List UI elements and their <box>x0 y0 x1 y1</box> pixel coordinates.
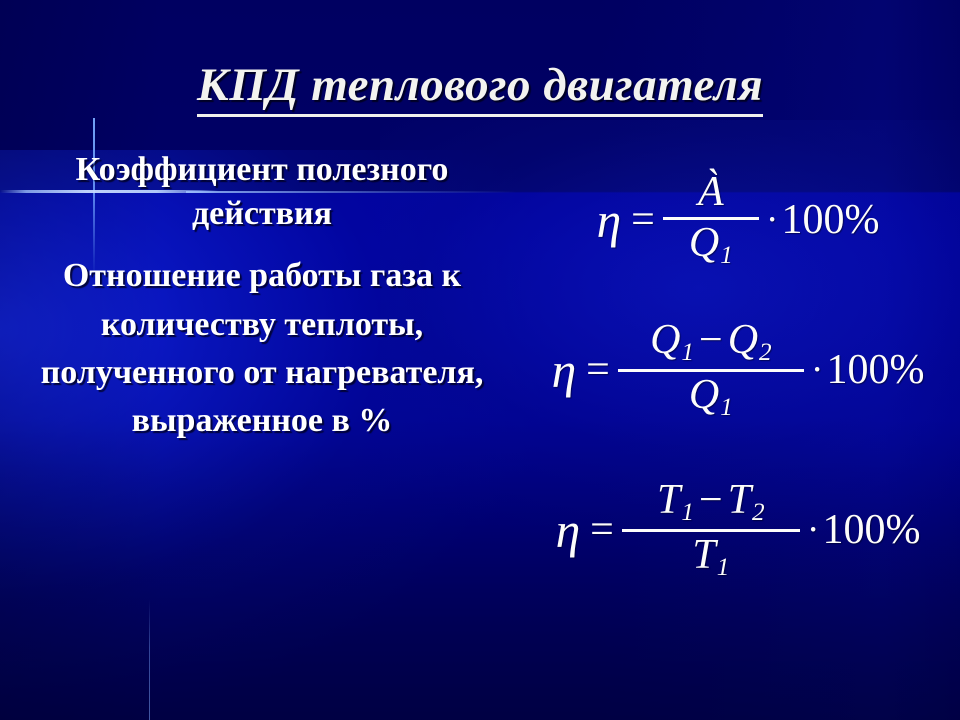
formula-1-numerator: À <box>692 171 730 217</box>
formula-efficiency-work-heat: η = À Q1 · 100% <box>516 150 960 290</box>
formula-2-multiply-dot: · <box>806 348 827 392</box>
formula-1-denominator-base: Q <box>689 220 719 266</box>
formula-2-denominator: Q1 <box>683 372 739 421</box>
decorative-vertical-line-bottom <box>149 600 150 720</box>
formula-2-numerator-second-base: Q <box>728 317 758 363</box>
formula-2-numerator-first-subscript: 1 <box>680 339 694 366</box>
formula-1-denominator: Q1 <box>683 220 739 269</box>
formula-3-fraction: T1−T2 T1 <box>622 479 800 581</box>
formula-3-denominator-subscript: 1 <box>716 554 730 581</box>
formula-2-equals-sign: = <box>580 346 616 394</box>
formula-1-equals-sign: = <box>625 196 661 244</box>
formula-2-eta-symbol: η <box>552 342 581 399</box>
formula-3-denominator-base: T <box>692 532 715 578</box>
formula-2-numerator-second-subscript: 2 <box>758 339 772 366</box>
definition-description: Отношение работы газа к количеству тепло… <box>8 252 516 445</box>
formula-1-denominator-subscript: 1 <box>719 242 733 269</box>
formula-3-numerator-first-base: T <box>657 477 680 523</box>
presentation-slide: КПД теплового двигателя Коэффициент поле… <box>0 0 960 720</box>
formula-3-numerator-second-base: T <box>728 477 751 523</box>
formula-1-eta-symbol: η <box>597 192 626 249</box>
formula-efficiency-temperature-difference: η = T1−T2 T1 · 100% <box>516 450 960 610</box>
formula-1-fraction: À Q1 <box>663 171 759 269</box>
formula-3-numerator-first-subscript: 1 <box>680 499 694 526</box>
formula-3-numerator-second-subscript: 2 <box>751 499 765 526</box>
formula-3-numerator-minus: − <box>694 477 728 523</box>
formula-3-eta-symbol: η <box>556 502 585 559</box>
formula-3-denominator: T1 <box>686 532 735 581</box>
formula-2-percent-factor: 100% <box>826 346 924 394</box>
formula-column: η = À Q1 · 100% η = Q1−Q2 Q1 · 100% η <box>516 150 960 610</box>
slide-title: КПД теплового двигателя <box>0 58 960 117</box>
slide-title-text: КПД теплового двигателя <box>197 58 763 117</box>
formula-2-fraction: Q1−Q2 Q1 <box>618 319 804 421</box>
formula-3-numerator: T1−T2 <box>651 479 771 528</box>
formula-3-equals-sign: = <box>584 506 620 554</box>
formula-efficiency-heat-difference: η = Q1−Q2 Q1 · 100% <box>516 290 960 450</box>
definition-term: Коэффициент полезного действия <box>8 148 516 236</box>
formula-2-numerator-minus: − <box>694 317 728 363</box>
formula-3-percent-factor: 100% <box>822 506 920 554</box>
formula-1-multiply-dot: · <box>761 198 782 242</box>
slide-body-text: Коэффициент полезного действия Отношение… <box>8 148 516 445</box>
formula-2-denominator-subscript: 1 <box>719 394 733 421</box>
formula-3-multiply-dot: · <box>802 508 823 552</box>
formula-1-percent-factor: 100% <box>781 196 879 244</box>
formula-2-denominator-base: Q <box>689 372 719 418</box>
formula-2-numerator: Q1−Q2 <box>644 319 778 368</box>
formula-2-numerator-first-base: Q <box>650 317 680 363</box>
